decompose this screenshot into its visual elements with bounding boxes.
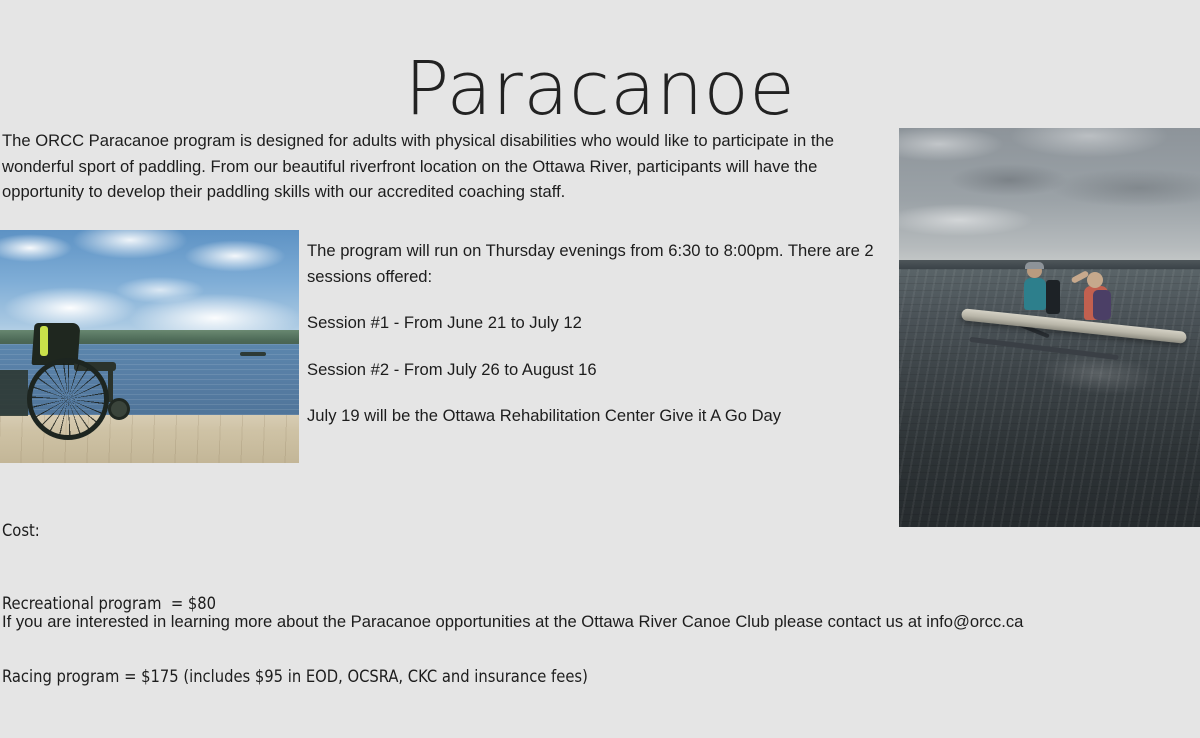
contact-line: If you are interested in learning more a… xyxy=(2,609,1198,635)
schedule-block: The program will run on Thursday evening… xyxy=(307,238,899,429)
shore-equipment xyxy=(0,370,28,416)
page-title: Paracanoe xyxy=(0,44,1200,134)
wheelchair-accent-strap xyxy=(40,326,48,356)
rear-paddler-lifejacket xyxy=(1093,290,1111,320)
distant-boat xyxy=(240,352,266,356)
spacer xyxy=(307,382,899,403)
wheelchair-caster xyxy=(108,398,130,420)
session-1-line: Session #1 - From June 21 to July 12 xyxy=(307,310,899,336)
paracanoe-flyer-page: Paracanoe The ORCC Paracanoe program is … xyxy=(0,0,1200,639)
far-shoreline xyxy=(899,260,1200,269)
spacer xyxy=(307,336,899,357)
cost-block: Cost: Recreational program = $80 Racing … xyxy=(2,470,702,738)
give-it-a-go-line: July 19 will be the Ottawa Rehabilitatio… xyxy=(307,403,899,429)
front-paddler-body xyxy=(1024,278,1046,310)
front-paddler-cap xyxy=(1025,262,1044,269)
cost-racing-line: Racing program = $175 (includes $95 in E… xyxy=(2,665,702,689)
adaptive-seat-back xyxy=(1046,280,1060,314)
wheelchair-on-dock-photo xyxy=(0,230,299,463)
overcast-cloud-layer xyxy=(899,128,1200,278)
intro-paragraph: The ORCC Paracanoe program is designed f… xyxy=(2,128,900,205)
session-2-line: Session #2 - From July 26 to August 16 xyxy=(307,357,899,383)
wheelchair-wheel xyxy=(27,358,109,440)
schedule-intro: The program will run on Thursday evening… xyxy=(307,238,899,289)
cost-heading: Cost: xyxy=(2,519,702,543)
paracanoe-on-river-photo xyxy=(899,128,1200,527)
rear-paddler-head xyxy=(1087,272,1103,288)
spacer xyxy=(307,289,899,310)
